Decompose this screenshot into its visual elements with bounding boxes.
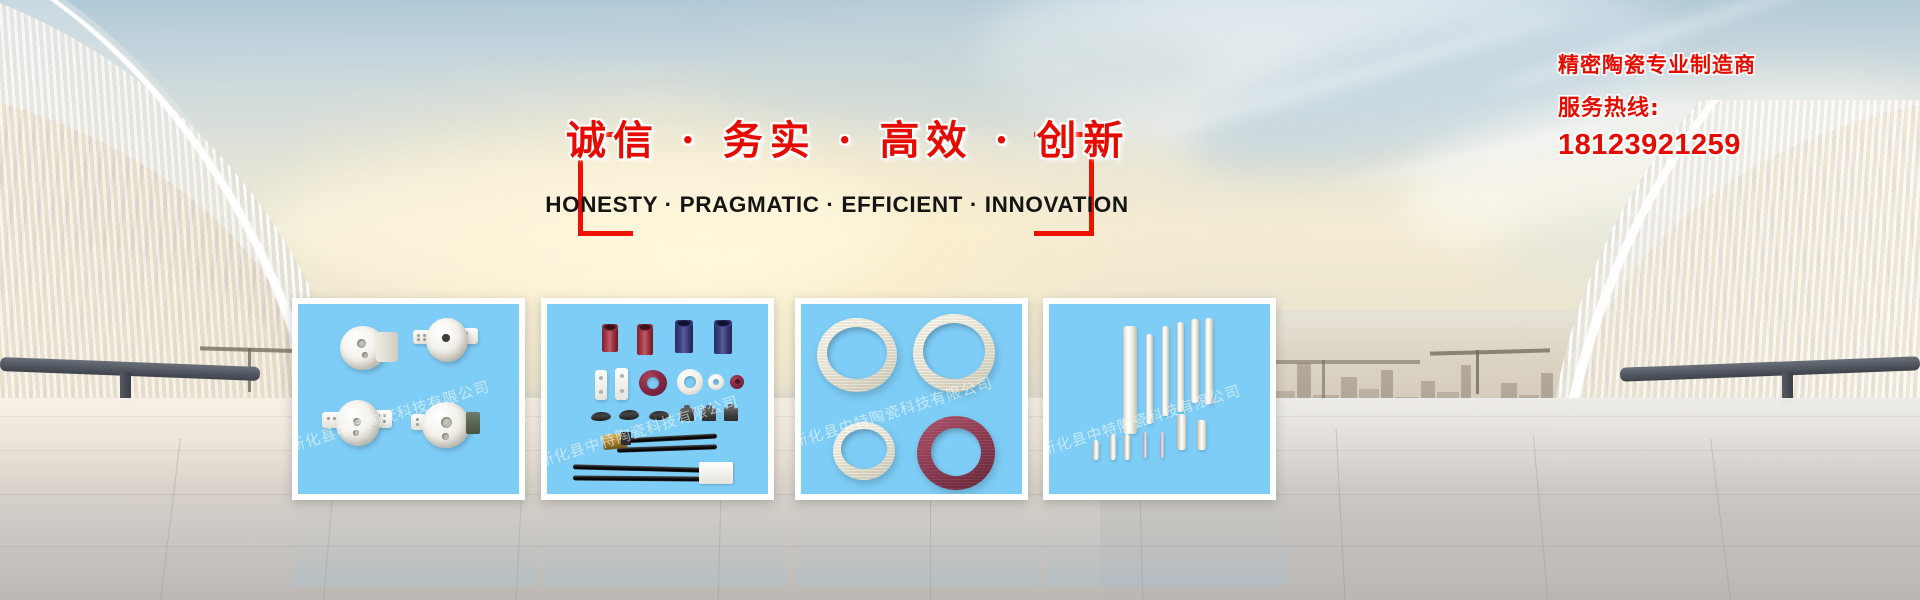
metal-blade <box>649 410 670 420</box>
ceramic-seal-ring-small <box>833 422 895 480</box>
ceramic-plate <box>595 370 607 400</box>
ceramic-rod <box>1191 319 1199 403</box>
ceramic-seal-ring-maroon <box>917 416 995 490</box>
ceramic-rod <box>1162 326 1169 416</box>
metal-clip <box>680 408 694 421</box>
ceramic-pin <box>1110 434 1116 460</box>
socket-body <box>376 332 398 362</box>
panel-photo: 新化县中特陶瓷科技有限公司 <box>298 304 519 494</box>
panel-reflection <box>1043 500 1288 586</box>
rail-post <box>1476 350 1479 394</box>
ceramic-seal-ring-large <box>817 318 897 392</box>
ceramic-rod-short <box>1197 420 1206 450</box>
panel-reflection <box>541 500 786 586</box>
ceramic-pin <box>1143 432 1147 458</box>
panel-photo: 新化县中特陶瓷科技有限公司 <box>801 304 1022 494</box>
ceramic-washer-white <box>708 374 724 390</box>
slogan-block: 诚信 · 务实 · 高效 · 创新 HONESTY · PRAGMATIC · … <box>578 132 1094 236</box>
bracket-right-bottom <box>1034 231 1094 236</box>
product-panel-ceramic-sockets[interactable]: 新化县中特陶瓷科技有限公司 <box>292 298 525 500</box>
black-wire <box>617 444 717 452</box>
ceramic-socket <box>422 402 470 448</box>
ceramic-pin <box>1124 434 1130 460</box>
metal-clip <box>724 407 738 421</box>
bracket-left-bottom <box>578 231 633 236</box>
product-panel-ceramic-rings[interactable]: 新化县中特陶瓷科技有限公司 <box>795 298 1028 500</box>
ceramic-tube-blue <box>714 320 732 354</box>
ceramic-rod <box>1146 334 1153 424</box>
ceramic-socket <box>336 400 380 446</box>
ceramic-rod <box>1177 322 1184 412</box>
contact-block: 精密陶瓷专业制造商 服务热线: 18123921259 <box>1558 50 1898 162</box>
metal-clip <box>702 408 716 421</box>
white-terminal-block <box>699 462 733 484</box>
product-panel-ceramic-rods[interactable]: 新化县中特陶瓷科技有限公司 <box>1043 298 1276 500</box>
ceramic-tube-blue <box>675 320 693 353</box>
metal-blade <box>591 411 612 421</box>
ceramic-rod <box>1205 318 1213 404</box>
black-wire <box>573 475 703 481</box>
slogan-english: HONESTY · PRAGMATIC · EFFICIENT · INNOVA… <box>540 192 1134 218</box>
ceramic-plate <box>615 368 628 400</box>
ceramic-pin <box>1160 432 1164 458</box>
ceramic-ring-white <box>677 369 703 395</box>
product-panel-ceramic-components[interactable]: 新化县中特陶瓷科技有限公司 <box>541 298 774 500</box>
ceramic-washer-maroon <box>730 375 744 389</box>
black-wire <box>573 464 703 472</box>
metal-blade <box>619 409 640 420</box>
ceramic-socket <box>426 318 468 362</box>
black-wire <box>619 433 717 443</box>
company-tagline: 精密陶瓷专业制造商 <box>1558 50 1898 80</box>
ceramic-seal-ring-large <box>913 314 995 392</box>
ceramic-ring-maroon <box>639 370 667 396</box>
panel-photo: 新化县中特陶瓷科技有限公司 <box>1049 304 1270 494</box>
ceramic-tube-red <box>637 324 653 355</box>
ceramic-rod <box>1123 326 1137 434</box>
panel-reflection <box>292 500 537 586</box>
ceramic-tube-red <box>602 324 618 352</box>
panel-reflection <box>795 500 1040 586</box>
slogan-chinese: 诚信 · 务实 · 高效 · 创新 <box>566 108 1106 166</box>
ceramic-rod-short <box>1177 414 1186 450</box>
hero-banner: 诚信 · 务实 · 高效 · 创新 HONESTY · PRAGMATIC · … <box>0 0 1920 600</box>
ceramic-pin <box>1093 440 1099 460</box>
hotline-phone-number[interactable]: 18123921259 <box>1558 128 1898 162</box>
terminal-clip <box>621 432 631 445</box>
hotline-label: 服务热线: <box>1558 90 1898 128</box>
socket-connector <box>466 412 480 434</box>
panel-photo: 新化县中特陶瓷科技有限公司 <box>547 304 768 494</box>
watermark-text: 新化县中特陶瓷科技有限公司 <box>298 355 519 457</box>
